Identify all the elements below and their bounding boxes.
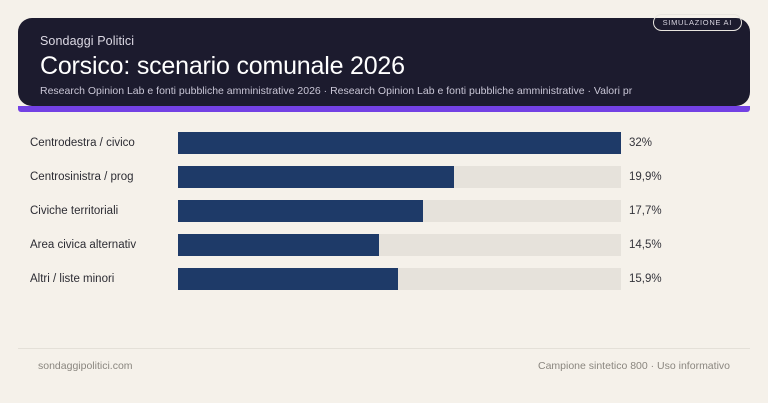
bar-category-label: Civiche territoriali xyxy=(18,205,178,217)
footer-source-site: sondaggipolitici.com xyxy=(38,360,133,372)
bar-category-label: Centrosinistra / prog xyxy=(18,171,178,183)
bar-fill xyxy=(178,234,379,256)
header-kicker: Sondaggi Politici xyxy=(40,34,730,49)
bar-track xyxy=(178,234,621,256)
table-row: Altri / liste minori 15,9% xyxy=(18,262,750,296)
footer: sondaggipolitici.com Campione sintetico … xyxy=(18,360,750,372)
table-row: Centrodestra / civico 32% xyxy=(18,126,750,160)
bar-track xyxy=(178,166,621,188)
bar-category-label: Altri / liste minori xyxy=(18,273,178,285)
header-subtitle: Research Opinion Lab e fonti pubbliche a… xyxy=(40,85,730,98)
bar-category-label: Centrodestra / civico xyxy=(18,137,178,149)
bar-fill xyxy=(178,166,454,188)
header-wrapper: Sondaggi Politici Corsico: scenario comu… xyxy=(18,18,750,106)
table-row: Centrosinistra / prog 19,9% xyxy=(18,160,750,194)
bar-fill xyxy=(178,132,621,154)
bar-chart: Centrodestra / civico 32% Centrosinistra… xyxy=(18,126,750,296)
bar-fill xyxy=(178,268,398,290)
page-title: Corsico: scenario comunale 2026 xyxy=(40,51,730,81)
bar-fill xyxy=(178,200,423,222)
bar-track xyxy=(178,200,621,222)
footer-divider xyxy=(18,348,750,349)
accent-divider xyxy=(18,106,750,112)
bar-value-label: 32% xyxy=(621,137,652,149)
status-badge-ai-simulation: SIMULAZIONE AI xyxy=(653,14,742,31)
bar-value-label: 19,9% xyxy=(621,171,662,183)
bar-track xyxy=(178,268,621,290)
bar-value-label: 15,9% xyxy=(621,273,662,285)
header-banner: Sondaggi Politici Corsico: scenario comu… xyxy=(18,18,750,106)
bar-value-label: 14,5% xyxy=(621,239,662,251)
bar-track xyxy=(178,132,621,154)
poll-infographic-card: Sondaggi Politici Corsico: scenario comu… xyxy=(0,0,768,403)
bar-value-label: 17,7% xyxy=(621,205,662,217)
bar-category-label: Area civica alternativ xyxy=(18,239,178,251)
table-row: Civiche territoriali 17,7% xyxy=(18,194,750,228)
footer-note: Campione sintetico 800 · Uso informativo xyxy=(538,360,730,372)
table-row: Area civica alternativ 14,5% xyxy=(18,228,750,262)
